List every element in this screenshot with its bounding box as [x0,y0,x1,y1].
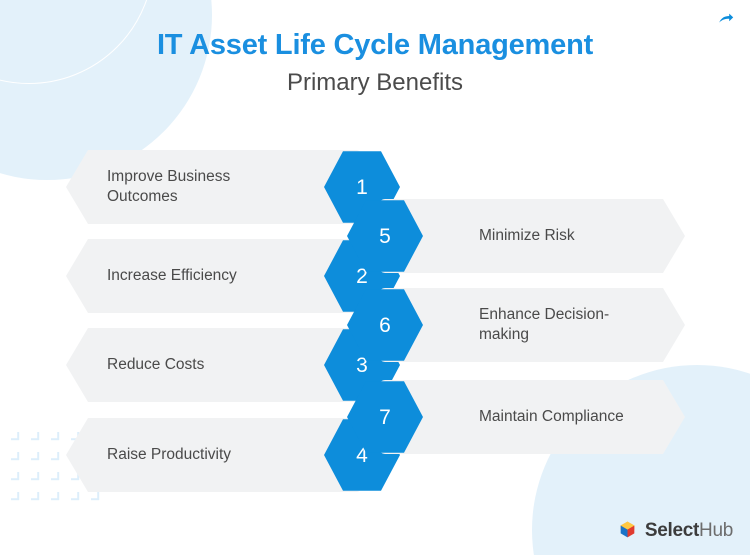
benefit-item-6[interactable]: Enhance Decision-making 6 [379,288,685,362]
benefit-number: 1 [356,177,368,198]
benefit-plate: Increase Efficiency [66,239,362,313]
benefit-number: 6 [379,315,391,336]
benefit-label: Raise Productivity [107,445,284,465]
logo-wordmark: SelectHub [645,521,733,540]
benefit-number-badge: 7 [347,379,423,455]
benefit-number: 5 [379,226,391,247]
benefit-label: Enhance Decision-making [479,305,655,345]
infographic-canvas: IT Asset Life Cycle Management Primary B… [0,0,750,555]
benefit-label: Minimize Risk [479,226,655,246]
benefit-plate: Improve Business Outcomes [66,150,362,224]
benefit-plate: Raise Productivity [66,418,362,492]
benefit-plate: Maintain Compliance [379,380,685,454]
benefit-label: Improve Business Outcomes [107,167,284,207]
selecthub-cube-icon [617,520,638,541]
benefit-plate: Enhance Decision-making [379,288,685,362]
benefit-number-badge: 6 [347,287,423,363]
benefit-number-badge: 5 [347,198,423,274]
logo-hub: Hub [699,520,733,541]
benefit-label: Increase Efficiency [107,266,284,286]
benefit-item-4[interactable]: Raise Productivity 4 [66,418,362,492]
benefit-item-2[interactable]: Increase Efficiency 2 [66,239,362,313]
benefit-item-7[interactable]: Maintain Compliance 7 [379,380,685,454]
logo-select: Select [645,520,699,541]
benefit-item-1[interactable]: Improve Business Outcomes 1 [66,150,362,224]
benefits-diagram: Improve Business Outcomes 1 Increase Eff… [0,0,750,555]
benefit-plate: Minimize Risk [379,199,685,273]
benefit-label: Reduce Costs [107,355,284,375]
benefit-number: 7 [379,407,391,428]
benefit-label: Maintain Compliance [479,407,655,427]
benefit-item-3[interactable]: Reduce Costs 3 [66,328,362,402]
benefit-plate: Reduce Costs [66,328,362,402]
selecthub-logo[interactable]: SelectHub [617,520,733,541]
benefit-item-5[interactable]: Minimize Risk 5 [379,199,685,273]
